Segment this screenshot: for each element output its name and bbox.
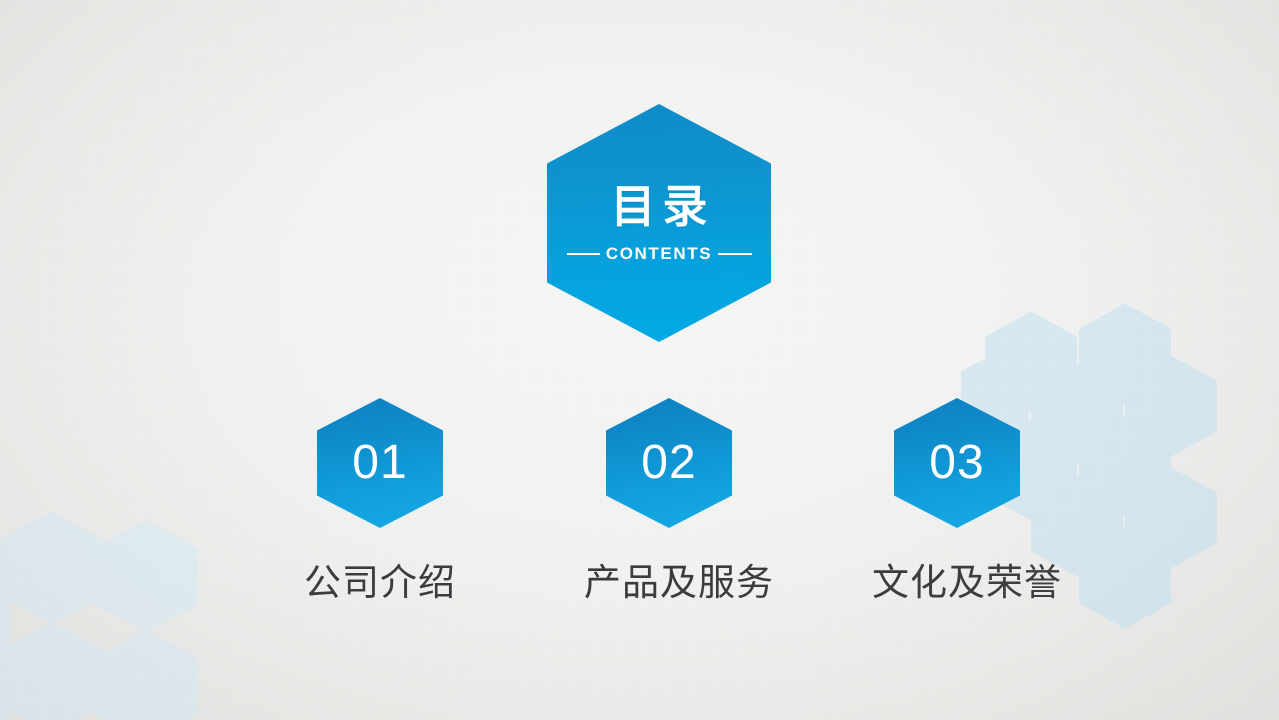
number-hexagon-03[interactable]: 03 — [894, 398, 1020, 528]
rule-right — [718, 253, 751, 255]
rule-left — [567, 253, 600, 255]
agenda-item-02[interactable]: 02 产品及服务 — [584, 398, 754, 601]
item-label: 公司介绍 — [295, 564, 465, 601]
number-hexagon-02[interactable]: 02 — [606, 398, 732, 528]
agenda-item-01[interactable]: 01 公司介绍 — [295, 398, 465, 601]
contents-subtitle-row: CONTENTS — [567, 245, 752, 262]
item-label: 文化及荣誉 — [872, 564, 1042, 601]
item-label: 产品及服务 — [584, 564, 754, 601]
presentation-slide: 目录 CONTENTS 01 公司介绍 02 产品及服务 03 文化及荣誉 — [0, 0, 1279, 720]
item-number: 02 — [641, 439, 696, 487]
agenda-item-03[interactable]: 03 文化及荣誉 — [872, 398, 1042, 601]
paper-texture-overlay — [0, 0, 1279, 720]
page-title: 目录 — [610, 184, 714, 229]
vignette-overlay — [0, 0, 1279, 720]
hexagon-cluster-icon — [0, 500, 242, 720]
contents-subtitle: CONTENTS — [606, 245, 712, 262]
number-hexagon-01[interactable]: 01 — [317, 398, 443, 528]
item-number: 03 — [929, 439, 984, 487]
contents-title-hexagon: 目录 CONTENTS — [547, 104, 771, 342]
item-number: 01 — [352, 439, 407, 487]
